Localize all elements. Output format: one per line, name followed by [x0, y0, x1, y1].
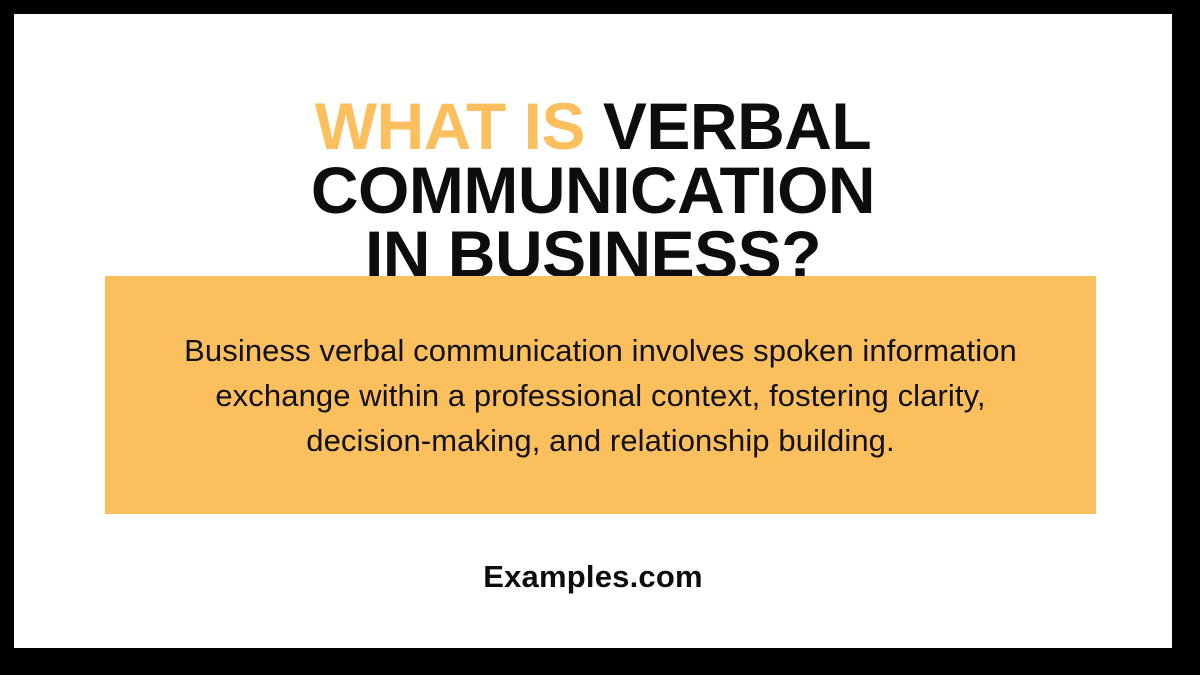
- title-line-2: COMMUNICATION: [14, 158, 1172, 222]
- brand-footer: Examples.com: [14, 557, 1172, 597]
- title-line-1-rest: VERBAL: [603, 89, 871, 163]
- definition-callout-box: Business verbal communication involves s…: [105, 276, 1096, 514]
- title-accent-text: WHAT IS: [315, 89, 603, 163]
- page-title: WHAT IS VERBAL COMMUNICATION IN BUSINESS…: [14, 94, 1172, 286]
- content-area: WHAT IS VERBAL COMMUNICATION IN BUSINESS…: [14, 14, 1172, 648]
- frame-border-left: [0, 0, 14, 675]
- title-line-1: WHAT IS VERBAL: [14, 94, 1172, 158]
- frame-border-bottom: [0, 648, 1200, 675]
- frame-border-right: [1172, 0, 1200, 675]
- infographic-canvas: WHAT IS VERBAL COMMUNICATION IN BUSINESS…: [0, 0, 1200, 675]
- frame-border-top: [0, 0, 1200, 14]
- definition-text: Business verbal communication involves s…: [156, 328, 1046, 463]
